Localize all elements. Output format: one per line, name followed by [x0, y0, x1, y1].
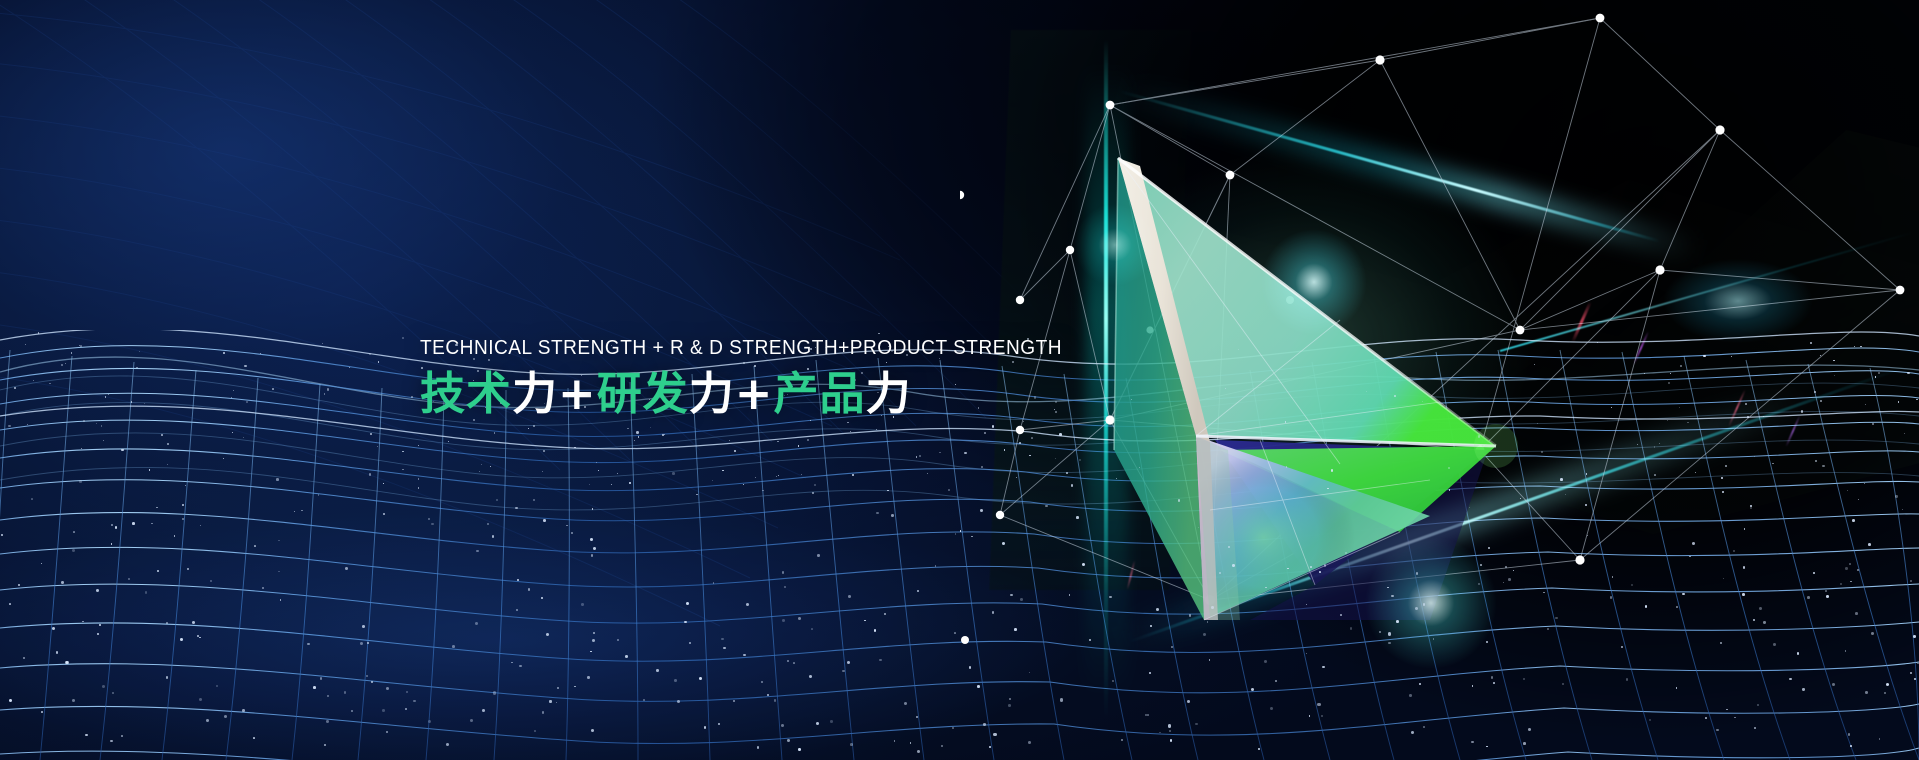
- headline-text-block: TECHNICAL STRENGTH + R & D STRENGTH+PROD…: [420, 337, 1040, 419]
- headline-chinese: 技术力+研发力+产品力: [420, 369, 1040, 419]
- headline-cn-part-6: 产品: [774, 367, 866, 420]
- headline-cn-part-0: 技术: [420, 367, 512, 420]
- headline-cn-part-4: 力: [689, 367, 735, 420]
- headline-cn-part-2: +: [558, 367, 597, 420]
- arrow-svg: [1100, 150, 1550, 620]
- headline-cn-part-3: 研发: [597, 367, 689, 420]
- hero-banner: TECHNICAL STRENGTH + R & D STRENGTH+PROD…: [0, 0, 1919, 760]
- headline-cn-part-7: 力: [866, 367, 912, 420]
- headline-cn-part-1: 力: [512, 367, 558, 420]
- play-arrow-graphic: [1100, 150, 1550, 620]
- headline-english: TECHNICAL STRENGTH + R & D STRENGTH+PROD…: [420, 337, 997, 360]
- headline-cn-part-5: +: [735, 367, 774, 420]
